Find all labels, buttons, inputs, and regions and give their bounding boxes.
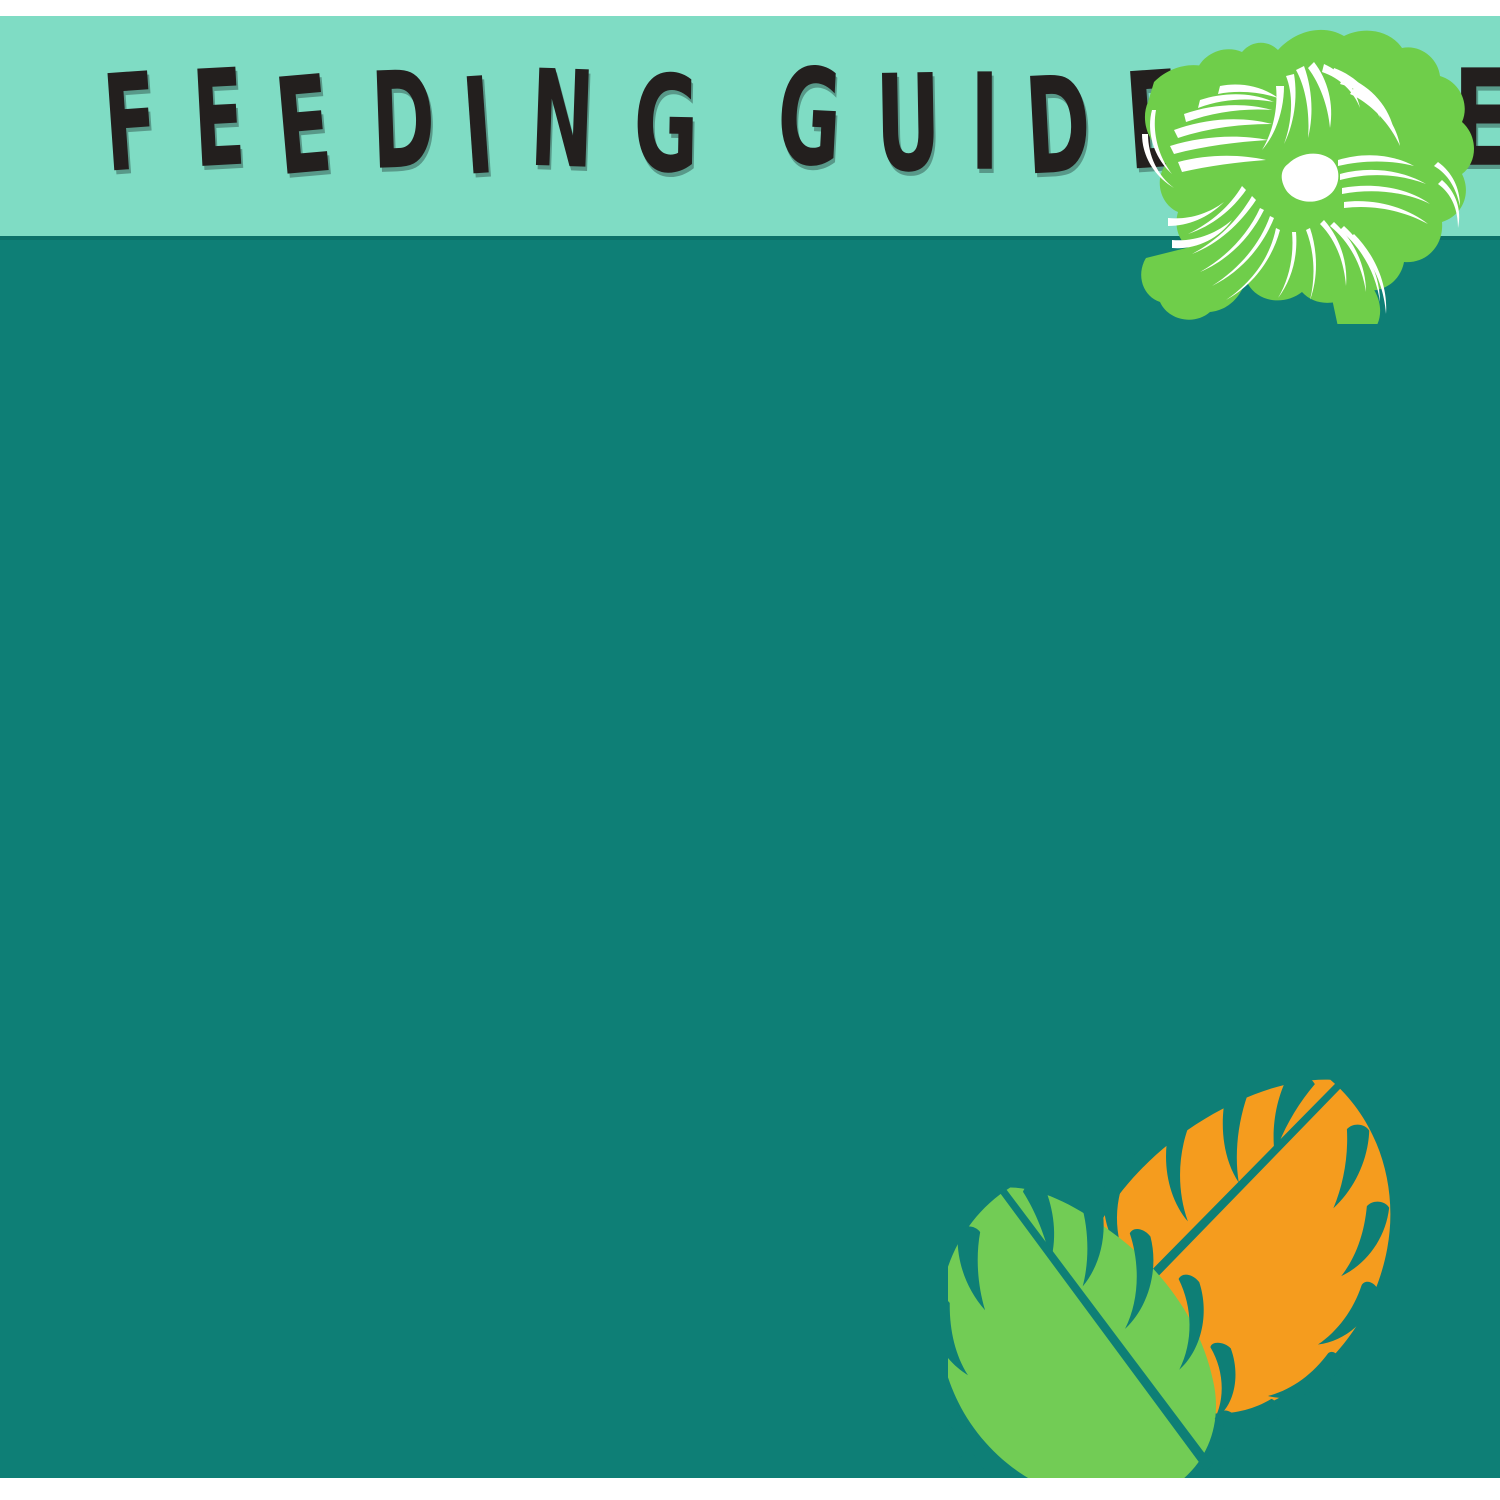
bottom-white-strip bbox=[0, 1478, 1500, 1500]
feeding-guidelines-card: FEEDINGGUIDELINES bbox=[0, 0, 1500, 1500]
tropical-leaves-decoration bbox=[948, 1022, 1500, 1478]
hibiscus-flower-icon bbox=[1128, 14, 1494, 324]
header-title-container: FEEDINGGUIDELINES bbox=[0, 16, 1120, 238]
